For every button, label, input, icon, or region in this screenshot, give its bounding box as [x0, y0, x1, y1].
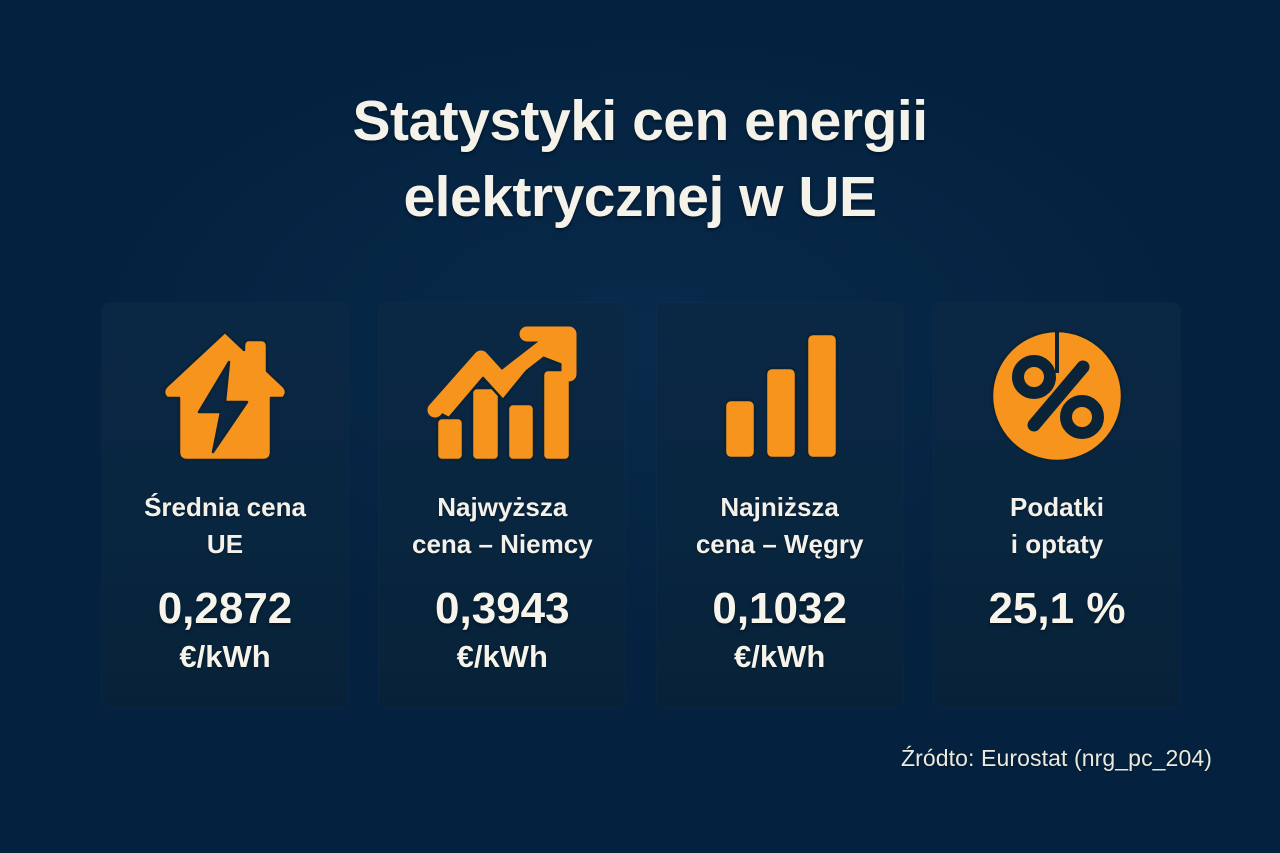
card-label-line-1: Podatki	[1010, 492, 1104, 522]
source-note: Źródto: Eurostat (nrg_pc_204)	[901, 745, 1212, 772]
icon-container	[379, 303, 625, 489]
icon-container	[934, 303, 1180, 489]
card-unit: €/kWh	[179, 638, 270, 675]
card-label-line-1: Średnia cena	[144, 492, 306, 522]
percent-pie-icon	[986, 325, 1128, 467]
card-label: Podatki i optaty	[1002, 489, 1112, 563]
bar-chart-icon	[715, 326, 845, 466]
card-label-line-1: Najwyższa	[437, 492, 567, 522]
stat-card-taxes-fees: Podatki i optaty 25,1 %	[934, 303, 1180, 707]
title-line-1: Statystyki cen energii	[0, 84, 1280, 160]
card-unit: €/kWh	[734, 638, 825, 675]
card-label-line-2: cena – Niemcy	[412, 526, 593, 563]
bar-chart-uptrend-icon	[427, 326, 577, 466]
icon-container	[102, 303, 348, 489]
house-bolt-icon	[149, 326, 301, 466]
card-unit: €/kWh	[457, 638, 548, 675]
stat-card-row: Średnia cena UE 0,2872 €/kWh	[102, 303, 1180, 707]
card-value: 0,1032	[712, 585, 847, 633]
infographic-canvas: Statystyki cen energii elektrycznej w UE…	[0, 0, 1280, 853]
page-title: Statystyki cen energii elektrycznej w UE	[0, 84, 1280, 236]
card-value: 0,3943	[435, 585, 570, 633]
card-value: 0,2872	[158, 585, 293, 633]
card-label-line-2: UE	[144, 526, 306, 563]
stat-card-highest-price: Najwyższa cena – Niemcy 0,3943 €/kWh	[379, 303, 625, 707]
card-label: Najniższa cena – Węgry	[688, 489, 872, 563]
icon-container	[657, 303, 903, 489]
card-value: 25,1 %	[988, 585, 1125, 633]
card-label-line-1: Najniższa	[720, 492, 839, 522]
card-label: Średnia cena UE	[136, 489, 314, 563]
card-label-line-2: i optaty	[1010, 526, 1104, 563]
stat-card-lowest-price: Najniższa cena – Węgry 0,1032 €/kWh	[657, 303, 903, 707]
card-label-line-2: cena – Węgry	[696, 526, 864, 563]
stat-card-average-price: Średnia cena UE 0,2872 €/kWh	[102, 303, 348, 707]
title-line-2: elektrycznej w UE	[0, 160, 1280, 236]
card-label: Najwyższa cena – Niemcy	[404, 489, 601, 563]
